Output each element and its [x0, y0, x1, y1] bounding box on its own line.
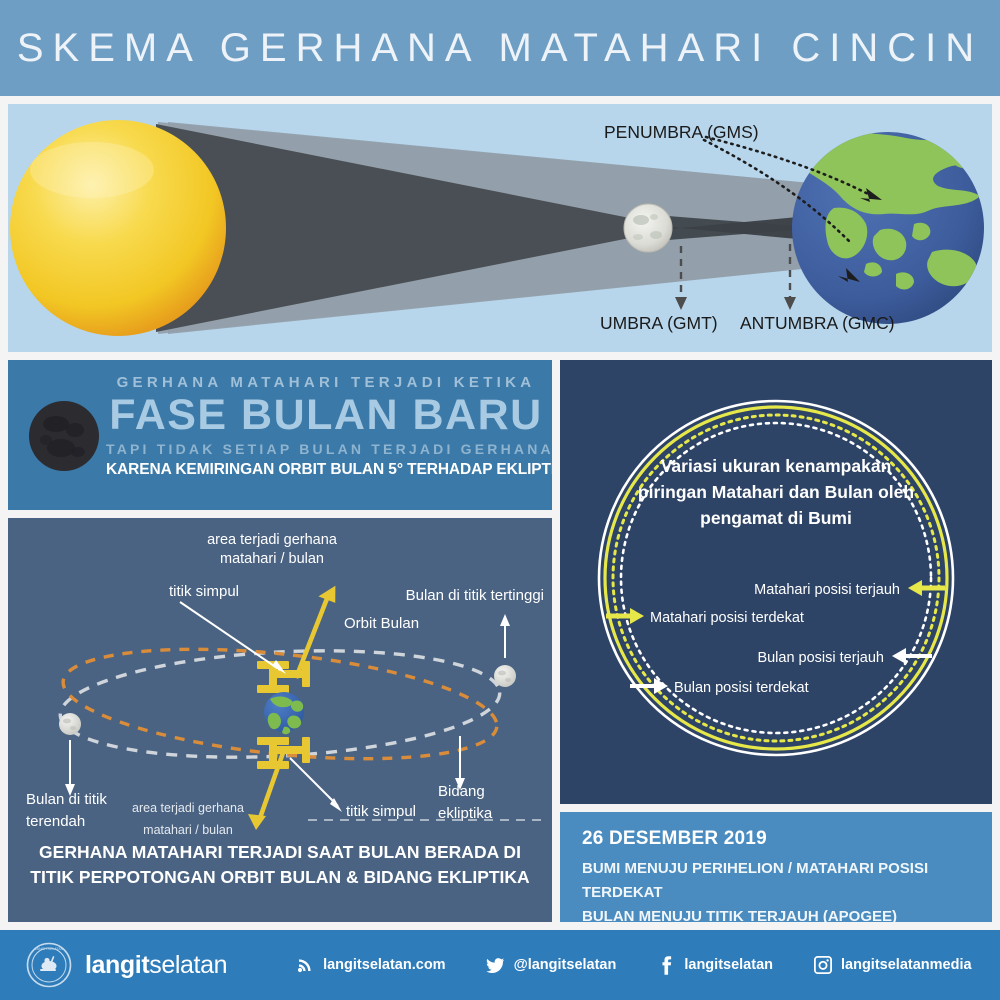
earth-sphere	[792, 132, 984, 324]
moon-sphere	[624, 204, 672, 252]
node-top-label: titik simpul	[169, 583, 239, 600]
rings-title-line1: Variasi ukuran kenampakan	[661, 456, 892, 476]
moon-lowest-label-l2: terendah	[26, 813, 85, 830]
brand-name-bold: langit	[85, 951, 149, 979]
phase-note: KARENA KEMIRINGAN ORBIT BULAN 5° TERHADA…	[106, 461, 546, 479]
twitter-icon	[486, 955, 506, 975]
moon-lowest-icon	[59, 713, 81, 735]
brand-name-light: selatan	[149, 951, 227, 979]
new-moon-icon	[28, 400, 100, 472]
social-link-website[interactable]: langitselatan.com	[295, 955, 445, 975]
eclipse-area-top-label-l2: matahari / bulan	[220, 551, 324, 567]
rss-icon	[295, 955, 315, 975]
eclipse-area-bottom-label-l2: matahari / bulan	[143, 823, 233, 837]
date-detail-line2: BULAN MENUJU TITIK TERJAUH (APOGEE)	[582, 905, 992, 922]
social-link-instagram[interactable]: langitselatanmedia	[813, 955, 972, 975]
eclipse-area-top-label-l1: area terjadi gerhana	[207, 532, 338, 548]
page-title: SKEMA GERHANA MATAHARI CINCIN	[17, 26, 983, 71]
social-label-website: langitselatan.com	[323, 957, 445, 973]
ecliptic-label-l2: ekliptika	[438, 805, 493, 822]
node-label-arrow-bottom	[290, 758, 342, 812]
social-label-twitter: @langitselatan	[514, 957, 617, 973]
antumbra-label: ANTUMBRA (GMC)	[740, 313, 895, 333]
langitselatan-seal-icon: LANGITSELATAN	[26, 942, 72, 988]
apparent-size-panel: Variasi ukuran kenampakan piringan Matah…	[560, 360, 992, 804]
instagram-icon	[813, 955, 833, 975]
new-moon-phase-panel: GERHANA MATAHARI TERJADI KETIKA FASE BUL…	[8, 360, 552, 510]
social-link-twitter[interactable]: @langitselatan	[486, 955, 617, 975]
moon-farthest-label: Bulan posisi terjauh	[757, 650, 884, 666]
eclipse-area-arrow-top	[296, 581, 341, 678]
date-detail-block: BUMI MENUJU PERIHELION / MATAHARI POSISI…	[582, 857, 992, 922]
eclipse-schematic-svg: PENUMBRA (GMS) UMBRA (GMT) ANTUMBRA (GMC…	[8, 104, 992, 352]
infographic-page: SKEMA GERHANA MATAHARI CINCIN	[0, 0, 1000, 1000]
rings-title-line3: pengamat di Bumi	[700, 508, 852, 528]
facebook-icon	[656, 955, 676, 975]
phase-eyebrow: GERHANA MATAHARI TERJADI KETIKA	[106, 374, 546, 391]
sun-farthest-label: Matahari posisi terjauh	[754, 582, 900, 598]
moon-highest-label: Bulan di titik tertinggi	[406, 587, 544, 604]
node-bottom-label: titik simpul	[346, 803, 416, 820]
svg-text:LANGITSELATAN: LANGITSELATAN	[35, 947, 64, 951]
moon-lowest-arrow	[65, 740, 75, 796]
eclipse-area-bottom-label-l1: area terjadi gerhana	[132, 801, 244, 815]
orbit-caption-line1: GERHANA MATAHARI TERJADI SAAT BULAN BERA…	[8, 840, 552, 865]
phase-text-block: GERHANA MATAHARI TERJADI KETIKA FASE BUL…	[106, 374, 546, 479]
moon-highest-icon	[494, 665, 516, 687]
orbit-caption: GERHANA MATAHARI TERJADI SAAT BULAN BERA…	[8, 840, 552, 891]
moon-nearest-label: Bulan posisi terdekat	[674, 680, 809, 696]
orbit-diagram-svg: area terjadi gerhana matahari / bulan ti…	[8, 518, 552, 848]
orbit-bulan-label: Orbit Bulan	[344, 615, 419, 632]
orbit-node-panel: area terjadi gerhana matahari / bulan ti…	[8, 518, 552, 922]
eclipse-date: 26 DESEMBER 2019	[582, 828, 767, 850]
date-info-panel: 26 DESEMBER 2019 BUMI MENUJU PERIHELION …	[560, 812, 992, 922]
rings-title-line2: piringan Matahari dan Bulan oleh	[638, 482, 914, 502]
phase-headline: FASE BULAN BARU	[106, 393, 546, 438]
ecliptic-label-l1: Bidang	[438, 783, 485, 800]
penumbra-label: PENUMBRA (GMS)	[604, 122, 759, 142]
social-link-facebook[interactable]: langitselatan	[656, 955, 773, 975]
orbit-caption-line2: TITIK PERPOTONGAN ORBIT BULAN & BIDANG E…	[8, 865, 552, 890]
moon-highest-arrow	[500, 614, 510, 658]
social-links: langitselatan.com @langitselatan langits…	[295, 955, 1000, 975]
apparent-size-svg: Variasi ukuran kenampakan piringan Matah…	[560, 360, 992, 804]
date-detail-line1: BUMI MENUJU PERIHELION / MATAHARI POSISI…	[582, 857, 992, 905]
brand-name: langitselatan	[85, 951, 227, 980]
earth-icon	[264, 692, 304, 734]
brand-block[interactable]: LANGITSELATAN langitselatan	[26, 942, 227, 988]
social-label-facebook: langitselatan	[684, 957, 773, 973]
social-label-instagram: langitselatanmedia	[841, 957, 972, 973]
eclipse-schematic-panel: PENUMBRA (GMS) UMBRA (GMT) ANTUMBRA (GMC…	[8, 104, 992, 352]
footer-bar: LANGITSELATAN langitselatan langitselata…	[0, 930, 1000, 1000]
sun-sphere	[10, 120, 226, 336]
sun-nearest-label: Matahari posisi terdekat	[650, 610, 804, 626]
phase-subline: TAPI TIDAK SETIAP BULAN TERJADI GERHANA	[106, 441, 546, 457]
ecliptic-label-arrow	[455, 736, 465, 790]
moon-nearest-circle	[599, 401, 953, 755]
node-label-arrow-top	[180, 602, 286, 674]
umbra-label: UMBRA (GMT)	[600, 313, 718, 333]
header-banner: SKEMA GERHANA MATAHARI CINCIN	[0, 0, 1000, 96]
moon-lowest-label-l1: Bulan di titik	[26, 791, 107, 808]
